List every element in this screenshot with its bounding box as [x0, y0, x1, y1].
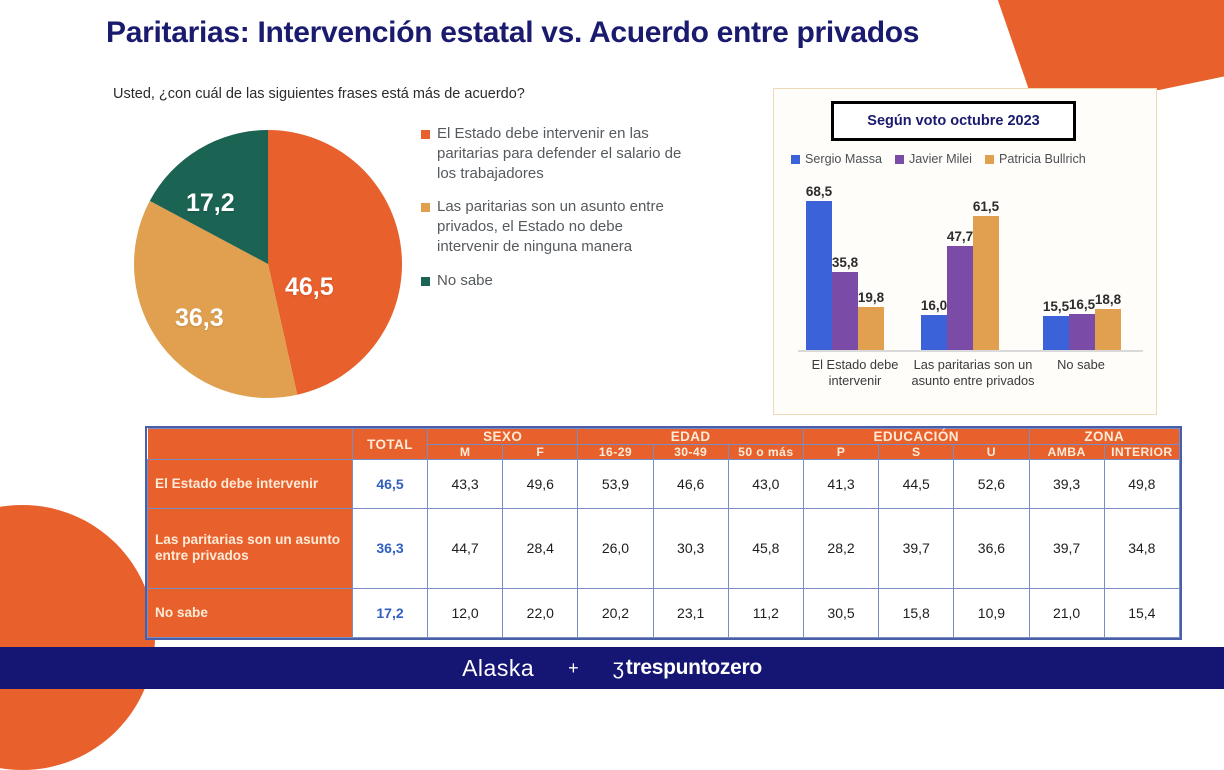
table-row: El Estado debe intervenir46,543,349,653,…: [148, 460, 1180, 509]
subheader-amba: AMBA: [1029, 445, 1104, 460]
brand-trespuntozero: ʒtrespuntozero: [613, 656, 762, 680]
legend-item-nosabe: No sabe: [421, 271, 686, 291]
bar: 68,5: [806, 201, 832, 350]
x-axis-line: [798, 350, 1143, 352]
table-body: El Estado debe intervenir46,543,349,653,…: [148, 460, 1180, 638]
bar-chart-legend: Sergio Massa Javier Milei Patricia Bullr…: [791, 152, 1148, 166]
table-cell: 11,2: [728, 589, 803, 638]
bar-value-label: 47,7: [947, 229, 973, 244]
footer-bar: Alaska + ʒtrespuntozero: [0, 647, 1224, 689]
table-cell-total: 17,2: [353, 589, 428, 638]
survey-question: Usted, ¿con cuál de las siguientes frase…: [113, 86, 525, 102]
table-row-label: No sabe: [148, 589, 353, 638]
subheader-50-o-mas: 50 o más: [728, 445, 803, 460]
table-cell-total: 46,5: [353, 460, 428, 509]
table-cell: 15,4: [1104, 589, 1179, 638]
bar-group: 16,047,761,5: [921, 216, 999, 350]
bar: 16,0: [921, 315, 947, 350]
brand-mark-icon: ʒ: [613, 656, 624, 679]
table-cell: 10,9: [954, 589, 1029, 638]
bar-value-label: 35,8: [832, 255, 858, 270]
subheader-p: P: [803, 445, 878, 460]
subheader-f: F: [503, 445, 578, 460]
bar: 19,8: [858, 307, 884, 350]
subheader-u: U: [954, 445, 1029, 460]
table-group-header-row: TOTAL SEXO EDAD EDUCACIÓN ZONA: [148, 429, 1180, 445]
pie-chart-svg: [133, 116, 403, 412]
decorative-shape-top-right: [984, 0, 1224, 90]
bar: 47,7: [947, 246, 973, 350]
table-cell: 39,7: [879, 508, 954, 588]
table-cell: 36,6: [954, 508, 1029, 588]
pie-slice-label-nosabe: 17,2: [186, 189, 235, 218]
table-cell: 30,5: [803, 589, 878, 638]
table-cell: 49,6: [503, 460, 578, 509]
bar-chart-plot: 68,535,819,816,047,761,515,516,518,8: [798, 189, 1143, 352]
table-cell: 43,3: [428, 460, 503, 509]
table-cell: 28,4: [503, 508, 578, 588]
legend-label-milei: Javier Milei: [909, 152, 972, 166]
bar-chart-panel: Según voto octubre 2023 Sergio Massa Jav…: [773, 88, 1157, 415]
brand-trespuntozero-label: trespuntozero: [626, 656, 762, 679]
table-cell: 52,6: [954, 460, 1029, 509]
header-educacion: EDUCACIÓN: [803, 429, 1029, 445]
table-cell: 15,8: [879, 589, 954, 638]
table-cell: 30,3: [653, 508, 728, 588]
header-edad: EDAD: [578, 429, 804, 445]
header-total: TOTAL: [353, 429, 428, 460]
bar-category-label: El Estado debe intervenir: [790, 357, 920, 388]
bar-value-label: 16,5: [1069, 297, 1095, 312]
bar-category-label: No sabe: [1026, 357, 1136, 373]
bar-value-label: 61,5: [973, 199, 999, 214]
bar-chart-title-box: Según voto octubre 2023: [831, 101, 1076, 141]
table-cell: 22,0: [503, 589, 578, 638]
page-title: Paritarias: Intervención estatal vs. Acu…: [106, 16, 919, 50]
crosstab-table: TOTAL SEXO EDAD EDUCACIÓN ZONA M F 16-29…: [147, 428, 1180, 638]
table-cell: 41,3: [803, 460, 878, 509]
legend-swatch-blue-icon: [791, 155, 800, 164]
legend-item-massa: Sergio Massa: [791, 152, 882, 166]
table-cell: 43,0: [728, 460, 803, 509]
legend-item-milei: Javier Milei: [895, 152, 972, 166]
pie-chart-legend: El Estado debe intervenir en las paritar…: [421, 124, 686, 291]
header-sexo: SEXO: [428, 429, 578, 445]
brand-plus-sign: +: [568, 658, 579, 679]
bar-value-label: 16,0: [921, 298, 947, 313]
legend-item-privados: Las paritarias son un asunto entre priva…: [421, 197, 686, 256]
table-cell: 20,2: [578, 589, 653, 638]
subheader-16-29: 16-29: [578, 445, 653, 460]
header-blank-corner: [148, 429, 353, 460]
decorative-circle-bottom-left: [0, 505, 155, 770]
bar: 18,8: [1095, 309, 1121, 350]
table-head: TOTAL SEXO EDAD EDUCACIÓN ZONA M F 16-29…: [148, 429, 1180, 460]
bar: 61,5: [973, 216, 999, 350]
table-cell: 46,6: [653, 460, 728, 509]
subheader-30-49: 30-49: [653, 445, 728, 460]
bar-group: 68,535,819,8: [806, 201, 884, 350]
table-row-label: Las paritarias son un asunto entre priva…: [148, 508, 353, 588]
legend-label-estado: El Estado debe intervenir en las paritar…: [437, 124, 686, 183]
legend-label-bullrich: Patricia Bullrich: [999, 152, 1086, 166]
bar-value-label: 15,5: [1043, 299, 1069, 314]
table-cell: 39,3: [1029, 460, 1104, 509]
pie-chart: 46,5 36,3 17,2: [133, 116, 403, 412]
legend-swatch-gold-icon: [421, 203, 430, 212]
header-zona: ZONA: [1029, 429, 1180, 445]
bar: 35,8: [832, 272, 858, 350]
legend-item-estado: El Estado debe intervenir en las paritar…: [421, 124, 686, 183]
bar: 15,5: [1043, 316, 1069, 350]
legend-swatch-orange-icon: [421, 130, 430, 139]
legend-label-privados: Las paritarias son un asunto entre priva…: [437, 197, 686, 256]
subheader-interior: INTERIOR: [1104, 445, 1179, 460]
subheader-s: S: [879, 445, 954, 460]
table-cell: 44,5: [879, 460, 954, 509]
bar-category-label: Las paritarias son un asunto entre priva…: [908, 357, 1038, 388]
legend-item-bullrich: Patricia Bullrich: [985, 152, 1086, 166]
crosstab-table-wrapper: TOTAL SEXO EDAD EDUCACIÓN ZONA M F 16-29…: [145, 426, 1182, 640]
table-cell: 12,0: [428, 589, 503, 638]
legend-label-massa: Sergio Massa: [805, 152, 882, 166]
table-cell: 28,2: [803, 508, 878, 588]
table-cell: 53,9: [578, 460, 653, 509]
table-cell: 44,7: [428, 508, 503, 588]
brand-alaska: Alaska: [462, 655, 534, 682]
table-cell: 39,7: [1029, 508, 1104, 588]
table-cell-total: 36,3: [353, 508, 428, 588]
legend-swatch-teal-icon: [421, 277, 430, 286]
bar: 16,5: [1069, 314, 1095, 350]
table-cell: 34,8: [1104, 508, 1179, 588]
table-row: No sabe17,212,022,020,223,111,230,515,81…: [148, 589, 1180, 638]
table-cell: 49,8: [1104, 460, 1179, 509]
bar-value-label: 18,8: [1095, 292, 1121, 307]
legend-swatch-gold-icon: [985, 155, 994, 164]
table-cell: 45,8: [728, 508, 803, 588]
table-cell: 26,0: [578, 508, 653, 588]
legend-label-nosabe: No sabe: [437, 271, 493, 291]
pie-slice-label-privados: 36,3: [175, 304, 224, 333]
table-cell: 23,1: [653, 589, 728, 638]
bar-value-label: 19,8: [858, 290, 884, 305]
table-row: Las paritarias son un asunto entre priva…: [148, 508, 1180, 588]
bar-group: 15,516,518,8: [1043, 309, 1121, 350]
subheader-m: M: [428, 445, 503, 460]
table-row-label: El Estado debe intervenir: [148, 460, 353, 509]
bar-chart-title: Según voto octubre 2023: [867, 113, 1039, 129]
table-cell: 21,0: [1029, 589, 1104, 638]
legend-swatch-purple-icon: [895, 155, 904, 164]
pie-slice-label-estado: 46,5: [285, 273, 334, 302]
bar-value-label: 68,5: [806, 184, 832, 199]
